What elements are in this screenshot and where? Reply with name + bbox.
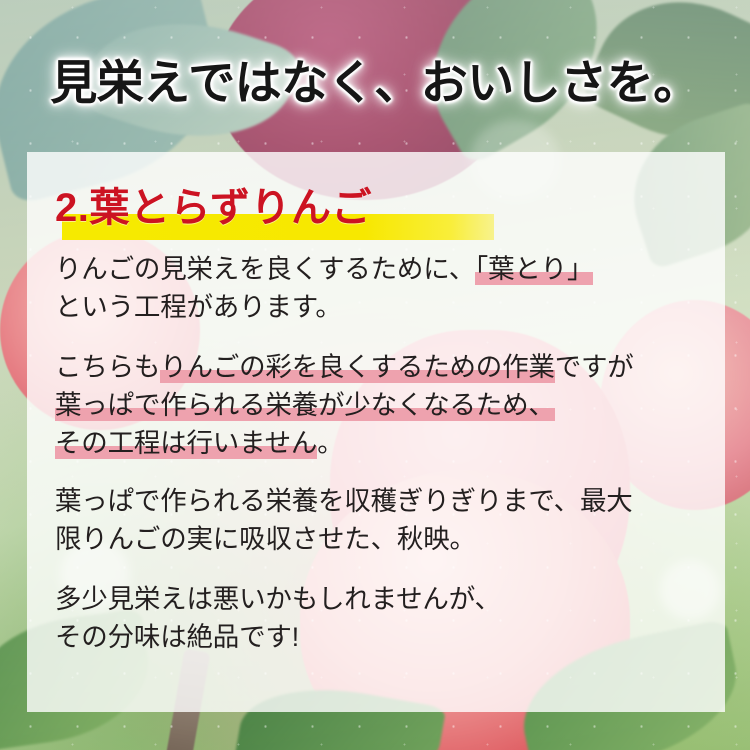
paragraph-line: 葉っぱで作られる栄養が少なくなるため、 — [55, 386, 715, 424]
paragraph-list: りんごの見栄えを良くするために、「葉とり」という工程があります。こちらもりんごの… — [55, 250, 715, 656]
content-body: 2.葉とらずりんご りんごの見栄えを良くするために、「葉とり」という工程がありま… — [55, 182, 715, 678]
plain-text: りんごの見栄えを良くするために、 — [55, 254, 475, 284]
section-title-text: 2.葉とらずりんご — [55, 182, 715, 228]
paragraph-line: 多少見栄えは悪いかもしれませんが、 — [55, 580, 715, 618]
paragraph-line: その工程は行いません。 — [55, 424, 715, 462]
promo-poster: 見栄えではなく、おいしさを。 2.葉とらずりんご りんごの見栄えを良くするために… — [0, 0, 750, 750]
plain-text: という工程があります。 — [55, 292, 342, 322]
paragraph-p1: りんごの見栄えを良くするために、「葉とり」という工程があります。 — [55, 250, 715, 326]
plain-text: 葉っぱで作られる栄養を収穫ぎりぎりまで、最大 — [55, 486, 633, 516]
paragraph-p2: こちらもりんごの彩を良くするための作業ですが葉っぱで作られる栄養が少なくなるため… — [55, 348, 715, 462]
section-heading: 2.葉とらずりんご — [55, 182, 715, 240]
plain-text: こちらも — [55, 352, 160, 382]
paragraph-line: という工程があります。 — [55, 288, 715, 326]
marker-highlight-text: その工程は行いません — [55, 428, 317, 459]
paragraph-line: りんごの見栄えを良くするために、「葉とり」 — [55, 250, 715, 288]
plain-text: ですが — [555, 352, 634, 382]
paragraph-line: こちらもりんごの彩を良くするための作業ですが — [55, 348, 715, 386]
marker-highlight-text: りんごの彩を良くするための作業 — [160, 352, 555, 383]
paragraph-line: 限りんごの実に吸収させた、秋映。 — [55, 520, 715, 558]
marker-highlight-text: 「葉とり」 — [475, 254, 593, 285]
paragraph-p4: 多少見栄えは悪いかもしれませんが、その分味は絶品です! — [55, 580, 715, 656]
paragraph-line: 葉っぱで作られる栄養を収穫ぎりぎりまで、最大 — [55, 482, 715, 520]
page-title: 見栄えではなく、おいしさを。 — [0, 44, 750, 113]
paragraph-line: その分味は絶品です! — [55, 618, 715, 656]
plain-text: 多少見栄えは悪いかもしれませんが、 — [55, 584, 501, 614]
marker-highlight-text: 葉っぱで作られる栄養が少なくなるため、 — [55, 390, 555, 421]
plain-text: 限りんごの実に吸収させた、秋映。 — [55, 524, 476, 554]
plain-text: その分味は絶品です! — [55, 622, 299, 652]
paragraph-p3: 葉っぱで作られる栄養を収穫ぎりぎりまで、最大限りんごの実に吸収させた、秋映。 — [55, 482, 715, 558]
plain-text: 。 — [317, 428, 343, 458]
